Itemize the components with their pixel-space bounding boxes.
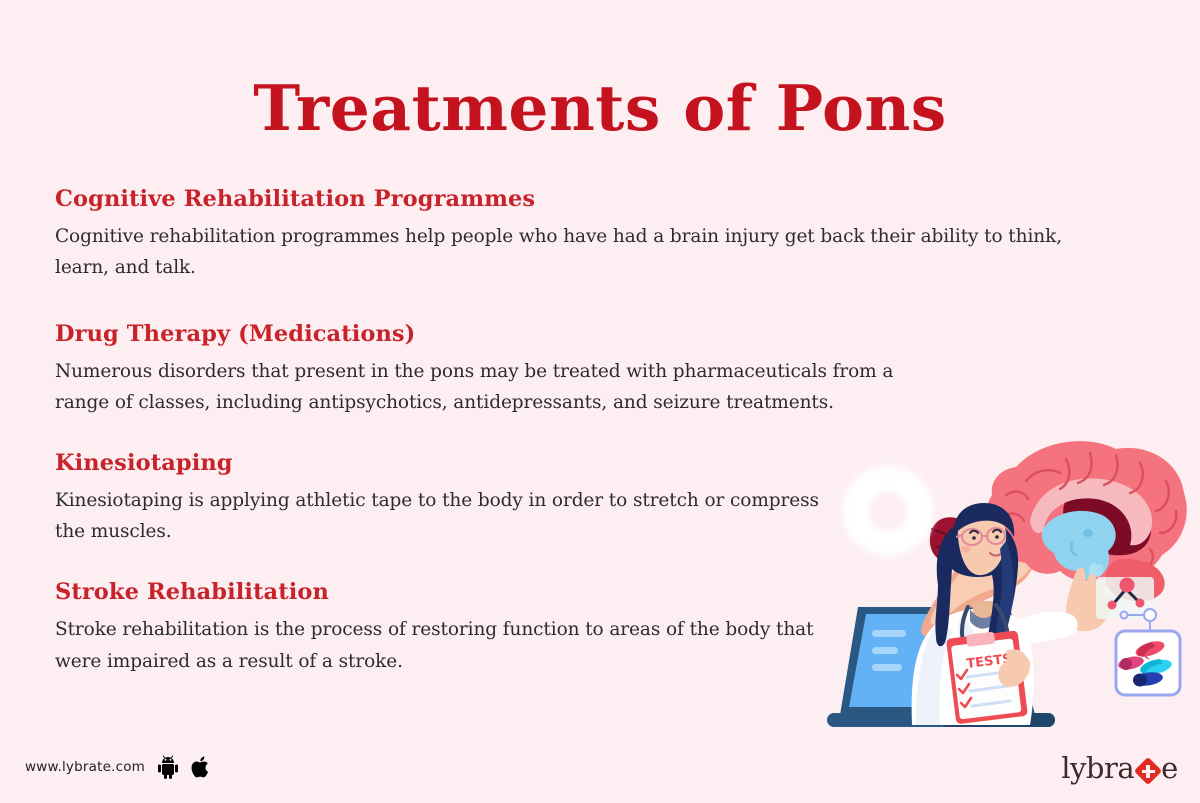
section-body-line-2: the muscles. — [55, 516, 855, 547]
android-icon[interactable] — [157, 755, 179, 779]
section-heading: Cognitive Rehabilitation Programmes — [55, 186, 1115, 213]
diamond-plus-icon — [1135, 758, 1161, 784]
treatment-section-cognitive-rehabilitation: Cognitive Rehabilitation Programmes Cogn… — [55, 186, 1115, 283]
section-body-line-1: Numerous disorders that present in the p… — [55, 361, 893, 382]
section-body: Numerous disorders that present in the p… — [55, 356, 925, 418]
pill — [1139, 657, 1174, 681]
footer-url[interactable]: www.lybrate.com — [25, 759, 145, 775]
section-body: Stroke rehabilitation is the process of … — [55, 614, 845, 676]
treatment-section-drug-therapy: Drug Therapy (Medications) Numerous diso… — [55, 321, 1115, 418]
lybrate-logo[interactable]: lybra e — [1061, 751, 1178, 785]
section-body-line-2: were impaired as a result of a stroke. — [55, 646, 845, 677]
section-body-line-1: Kinesiotaping is applying athletic tape … — [55, 490, 819, 511]
section-body-line-1: Cognitive rehabilitation programmes help… — [55, 226, 1062, 247]
section-heading: Kinesiotaping — [55, 450, 1115, 477]
infographic-page: Treatments of Pons Cognitive Rehabilitat… — [0, 0, 1200, 803]
treatments-list: Cognitive Rehabilitation Programmes Cogn… — [55, 186, 1115, 707]
page-title: Treatments of Pons — [0, 74, 1200, 143]
section-heading: Drug Therapy (Medications) — [55, 321, 1115, 348]
section-body: Cognitive rehabilitation programmes help… — [55, 221, 1095, 283]
pill — [1134, 638, 1167, 662]
treatment-section-kinesiotaping: Kinesiotaping Kinesiotaping is applying … — [55, 450, 1115, 547]
section-body-line-1: Stroke rehabilitation is the process of … — [55, 619, 813, 640]
pill — [1132, 670, 1164, 687]
treatment-section-stroke-rehabilitation: Stroke Rehabilitation Stroke rehabilitat… — [55, 579, 1115, 676]
logo-text-before: lybra — [1061, 751, 1134, 785]
pill-box — [1116, 631, 1180, 695]
section-heading: Stroke Rehabilitation — [55, 579, 1115, 606]
footer: www.lybrate.com — [25, 755, 211, 779]
section-body-line-2: learn, and talk. — [55, 252, 1095, 283]
pill — [1117, 654, 1145, 671]
apple-icon[interactable] — [191, 755, 211, 779]
logo-text-after: e — [1161, 751, 1178, 785]
section-body-line-2: range of classes, including antipsychoti… — [55, 387, 925, 418]
section-body: Kinesiotaping is applying athletic tape … — [55, 485, 855, 547]
